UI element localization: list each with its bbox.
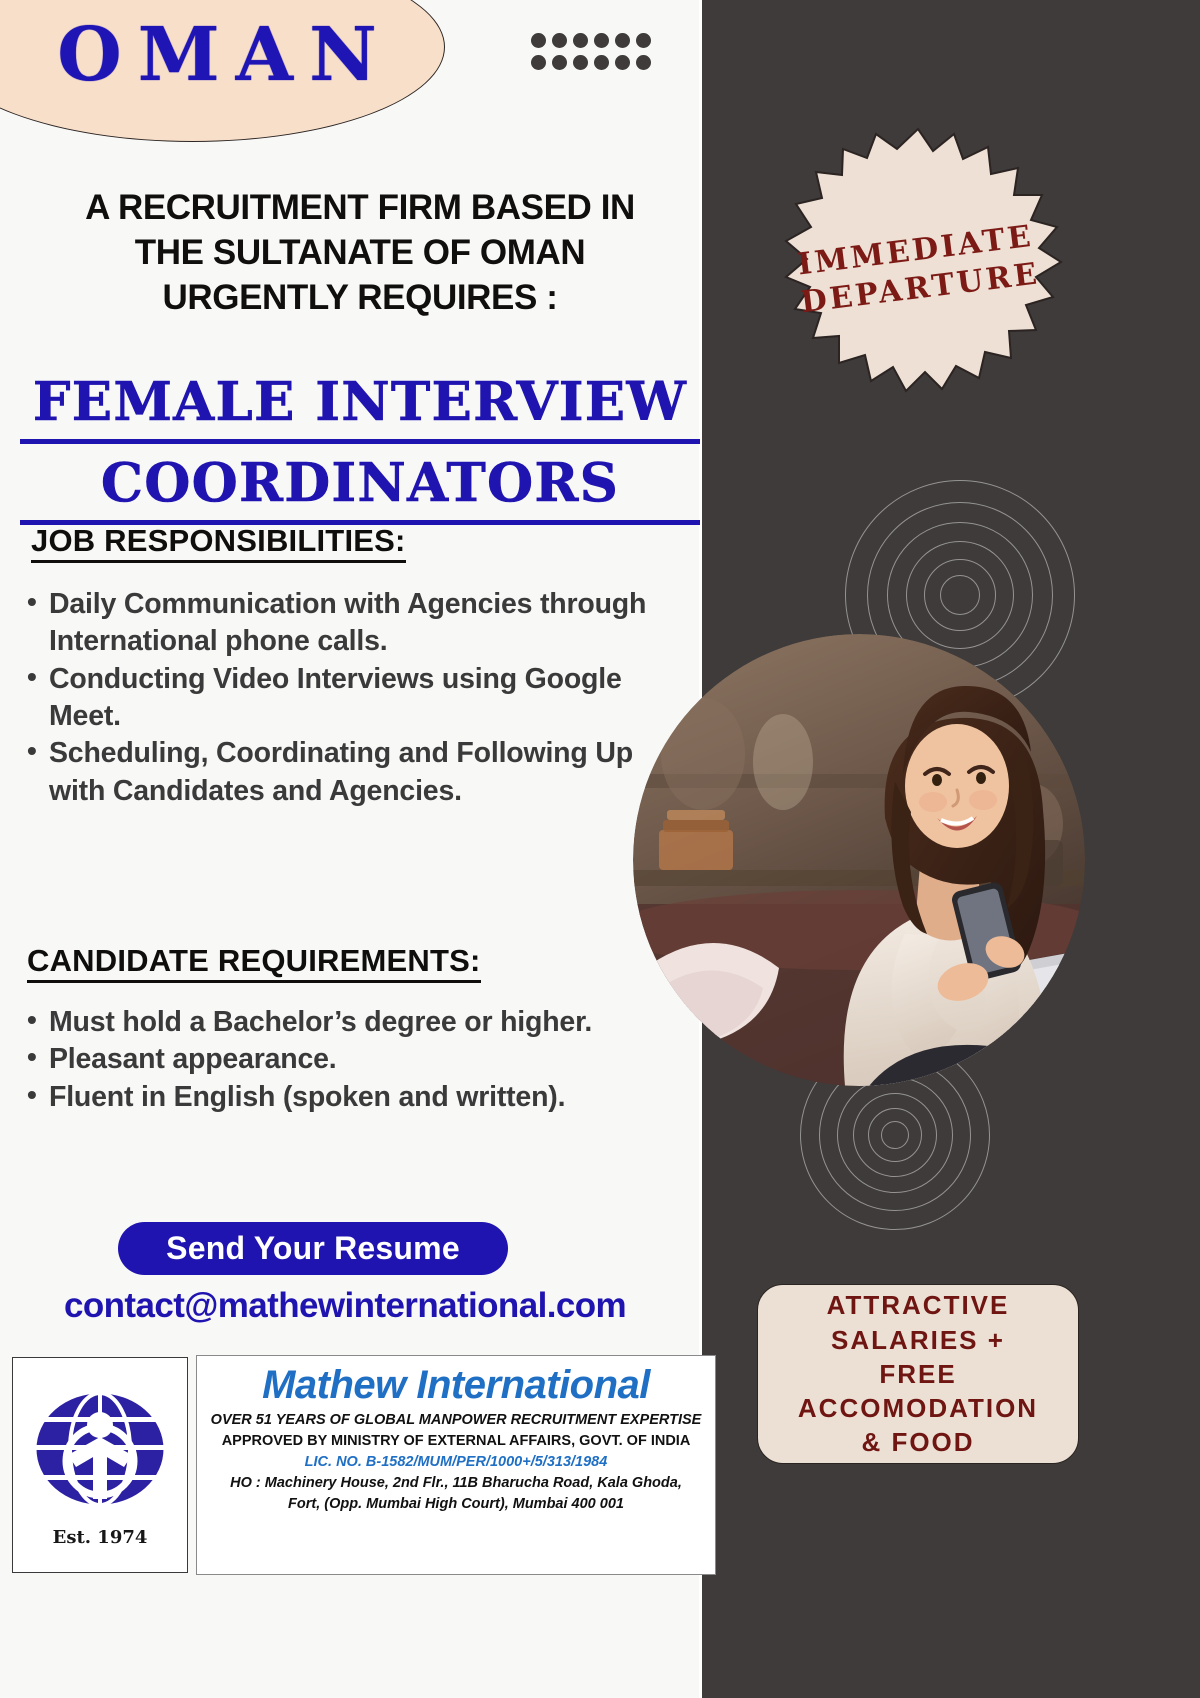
list-item: Pleasant appearance. (22, 1041, 662, 1078)
job-title-line-2: COORDINATORS (20, 449, 700, 525)
dot-icon (594, 33, 609, 48)
list-item: Scheduling, Coordinating and Following U… (22, 735, 662, 810)
country-title: OMAN (10, 10, 440, 100)
requirements-heading: CANDIDATE REQUIREMENTS: (27, 943, 481, 983)
intro-heading: A RECRUITMENT FIRM BASED IN THE SULTANAT… (30, 185, 690, 320)
established-year: Est. 1974 (53, 1527, 148, 1548)
salary-line-4: ACCOMODATION (798, 1391, 1038, 1425)
dot-icon (552, 33, 567, 48)
company-address-line-1: HO : Machinery House, 2nd Flr., 11B Bhar… (203, 1473, 709, 1494)
salary-line-3: FREE (798, 1357, 1038, 1391)
dot-icon (594, 55, 609, 70)
salary-line-2: SALARIES + (798, 1323, 1038, 1357)
dot-icon (573, 33, 588, 48)
requirements-list: Must hold a Bachelor’s degree or higher.… (22, 1004, 662, 1116)
dot-icon (636, 55, 651, 70)
company-name: Mathew International (203, 1364, 709, 1406)
dot-icon (531, 55, 546, 70)
list-item: Conducting Video Interviews using Google… (22, 661, 662, 736)
poster-root: OMAN A RECRUITMENT FIRM BASED IN THE SUL… (0, 0, 1200, 1698)
intro-line-2: THE SULTANATE OF OMAN (30, 230, 690, 275)
candidate-photo (633, 634, 1085, 1086)
dot-icon (573, 55, 588, 70)
company-license: LIC. NO. B-1582/MUM/PER/1000+/5/313/1984 (203, 1452, 709, 1473)
company-logo-box: Est. 1974 (12, 1357, 188, 1573)
job-title-line-1: FEMALE INTERVIEW (20, 368, 700, 444)
responsibilities-list: Daily Communication with Agencies throug… (22, 586, 662, 810)
dot-icon (552, 55, 567, 70)
list-item: Must hold a Bachelor’s degree or higher. (22, 1004, 662, 1041)
company-tagline: OVER 51 YEARS OF GLOBAL MANPOWER RECRUIT… (203, 1410, 709, 1431)
list-item: Daily Communication with Agencies throug… (22, 586, 662, 661)
intro-line-3: URGENTLY REQUIRES : (30, 275, 690, 320)
woman-with-phone-photo-icon (633, 634, 1085, 1086)
dot-icon (636, 33, 651, 48)
send-resume-button[interactable]: Send Your Resume (118, 1222, 508, 1275)
responsibilities-heading: JOB RESPONSIBILITIES: (31, 523, 406, 563)
list-item: Fluent in English (spoken and written). (22, 1079, 662, 1116)
immediate-departure-label: IMMEDIATE DEPARTURE (751, 108, 1084, 432)
company-address-line-2: Fort, (Opp. Mumbai High Court), Mumbai 4… (203, 1494, 709, 1515)
dot-grid-decoration (531, 33, 657, 77)
company-approval: APPROVED BY MINISTRY OF EXTERNAL AFFAIRS… (203, 1431, 709, 1452)
salary-line-1: ATTRACTIVE (798, 1288, 1038, 1322)
salary-line-5: & FOOD (798, 1425, 1038, 1459)
globe-figure-logo-icon (30, 1383, 170, 1523)
contact-email[interactable]: contact@mathewinternational.com (0, 1286, 690, 1326)
intro-line-1: A RECRUITMENT FIRM BASED IN (30, 185, 690, 230)
dot-icon (531, 33, 546, 48)
dot-icon (615, 55, 630, 70)
job-title: FEMALE INTERVIEW COORDINATORS (20, 368, 700, 525)
salary-benefits-badge: ATTRACTIVE SALARIES + FREE ACCOMODATION … (757, 1284, 1079, 1464)
immediate-departure-badge: IMMEDIATE DEPARTURE (768, 125, 1068, 415)
company-info-box: Mathew International OVER 51 YEARS OF GL… (196, 1355, 716, 1575)
dot-icon (615, 33, 630, 48)
